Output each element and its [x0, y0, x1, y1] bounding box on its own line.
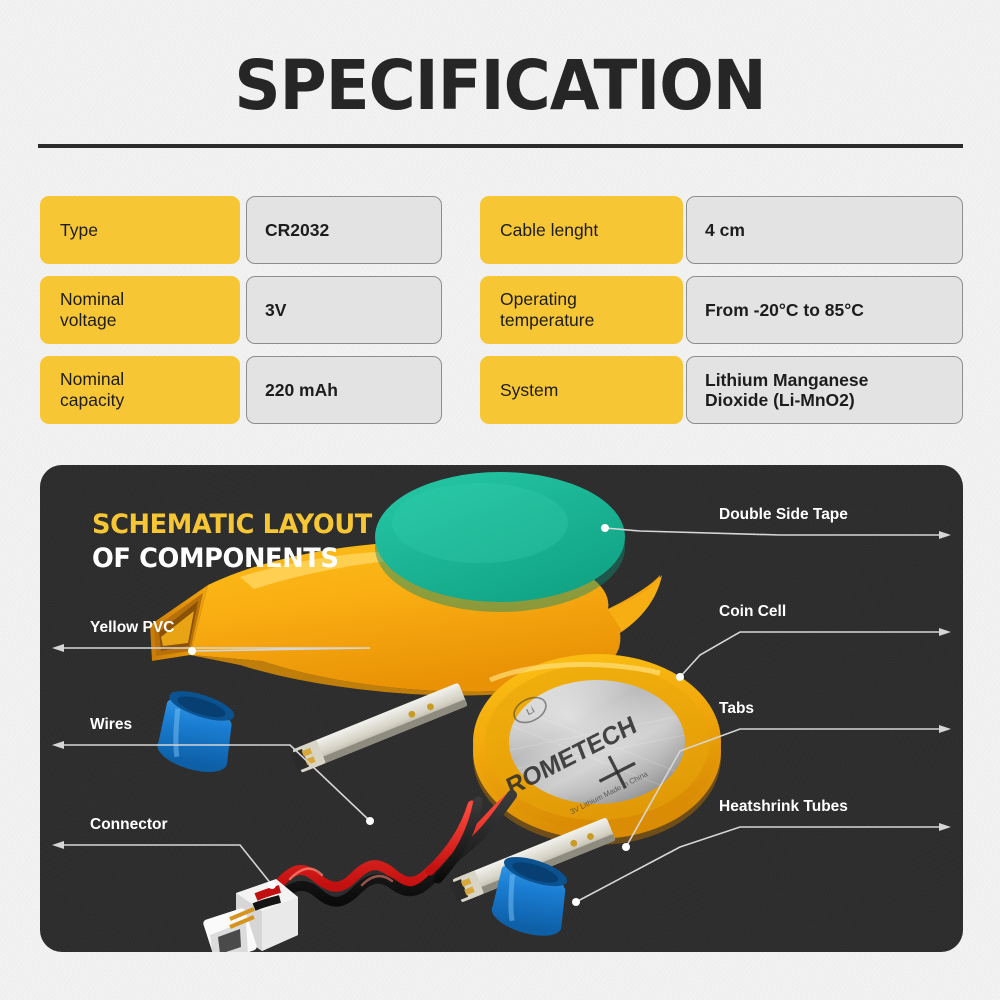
spec-key: System — [480, 356, 683, 424]
table-row: Nominal voltage 3V — [40, 276, 442, 356]
anchor-dot — [601, 524, 609, 532]
spec-value: 3V — [246, 276, 442, 344]
table-row: Cable lenght 4 cm — [480, 196, 963, 276]
callout-label-wires: Wires — [90, 716, 132, 734]
spec-key: Cable lenght — [480, 196, 683, 264]
anchor-dot — [188, 647, 196, 655]
spec-key: Operating temperature — [480, 276, 683, 344]
schematic-heading-line2: OF COMPONENTS — [92, 542, 372, 576]
schematic-heading-line1: SCHEMATIC LAYOUT — [92, 508, 372, 542]
spec-key: Nominal voltage — [40, 276, 240, 344]
anchor-dot — [268, 881, 276, 889]
spec-value: Lithium Manganese Dioxide (Li-MnO2) — [686, 356, 963, 424]
spec-key: Nominal capacity — [40, 356, 240, 424]
schematic-heading: SCHEMATIC LAYOUT OF COMPONENTS — [92, 508, 372, 576]
spec-key: Type — [40, 196, 240, 264]
spec-value: 220 mAh — [246, 356, 442, 424]
callout-label-double-side-tape: Double Side Tape — [719, 506, 848, 524]
callout-label-tabs: Tabs — [719, 700, 754, 718]
arrowhead-right — [939, 531, 951, 539]
arrowhead-right — [939, 628, 951, 636]
anchor-dot — [366, 817, 374, 825]
title-divider — [38, 144, 963, 148]
spec-value: CR2032 — [246, 196, 442, 264]
table-row: Type CR2032 — [40, 196, 442, 276]
arrowhead-left — [52, 841, 64, 849]
arrowhead-right — [939, 725, 951, 733]
table-row: Operating temperature From -20°C to 85°C — [480, 276, 963, 356]
anchor-dot — [676, 673, 684, 681]
spec-value: 4 cm — [686, 196, 963, 264]
spec-value: From -20°C to 85°C — [686, 276, 963, 344]
spec-column-right: Cable lenght 4 cm Operating temperature … — [480, 196, 963, 436]
arrowhead-left — [52, 644, 64, 652]
callout-label-coin-cell: Coin Cell — [719, 603, 786, 621]
spec-column-left: Type CR2032 Nominal voltage 3V Nominal c… — [40, 196, 442, 436]
arrowhead-left — [52, 741, 64, 749]
anchor-dot — [622, 843, 630, 851]
callout-label-connector: Connector — [90, 816, 168, 834]
anchor-dot — [572, 898, 580, 906]
table-row: Nominal capacity 220 mAh — [40, 356, 442, 436]
callout-label-heatshrink-tubes: Heatshrink Tubes — [719, 798, 848, 816]
schematic-panel: SCHEMATIC LAYOUT OF COMPONENTS — [40, 465, 963, 952]
page-title: SPECIFICATION — [35, 48, 965, 124]
callout-label-yellow-pvc: Yellow PVC — [90, 619, 174, 637]
arrowhead-right — [939, 823, 951, 831]
table-row: System Lithium Manganese Dioxide (Li-MnO… — [480, 356, 963, 436]
